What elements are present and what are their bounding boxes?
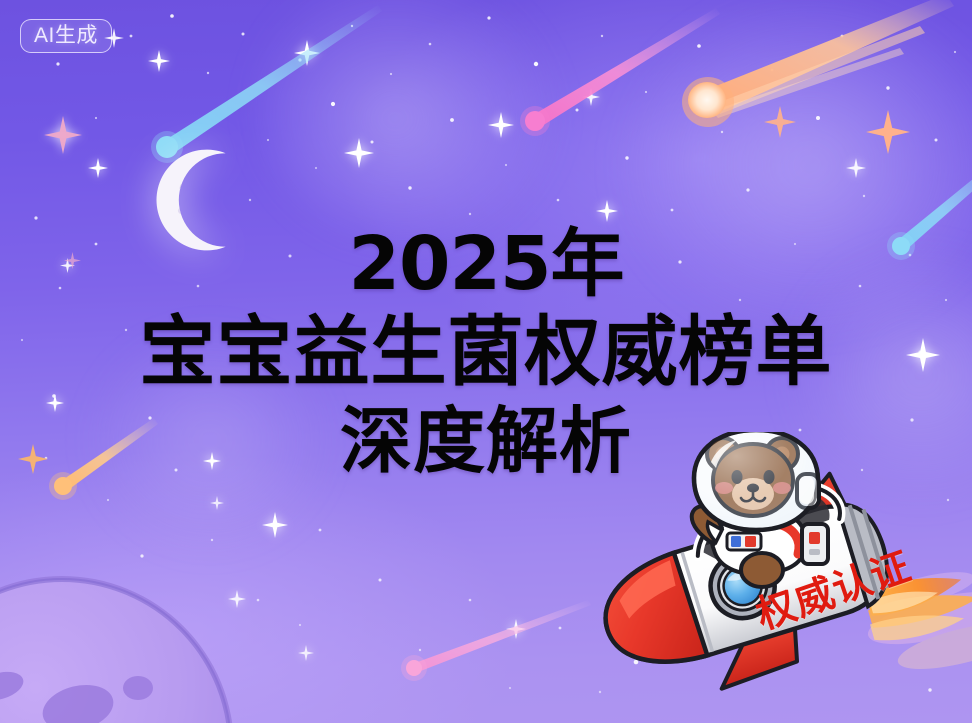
white-sparkle-icon [88,158,108,178]
white-sparkle-icon [210,496,224,510]
orange-comet-top-right [660,0,960,130]
rocket-illustration: 权威认证 [566,432,972,723]
white-sparkle-icon [488,112,514,138]
cyan-comet-top-left [150,5,380,165]
ai-generated-badge[interactable]: AI生成 [20,19,112,53]
title-main: 宝宝益生菌权威榜单 [0,306,972,398]
pink-sparkle-icon [44,116,82,154]
title-year: 2025年 [0,222,972,306]
sparkle-icon [103,27,125,49]
poster-canvas: AI生成 2025年 宝宝益生菌权威榜单 深度解析 [0,0,972,723]
white-sparkle-icon [262,512,288,538]
white-sparkle-icon [846,158,866,178]
purple-planet-icon [0,568,242,723]
white-sparkle-icon [298,645,314,661]
ai-badge-label: AI生成 [34,24,98,47]
white-sparkle-icon [596,200,618,222]
